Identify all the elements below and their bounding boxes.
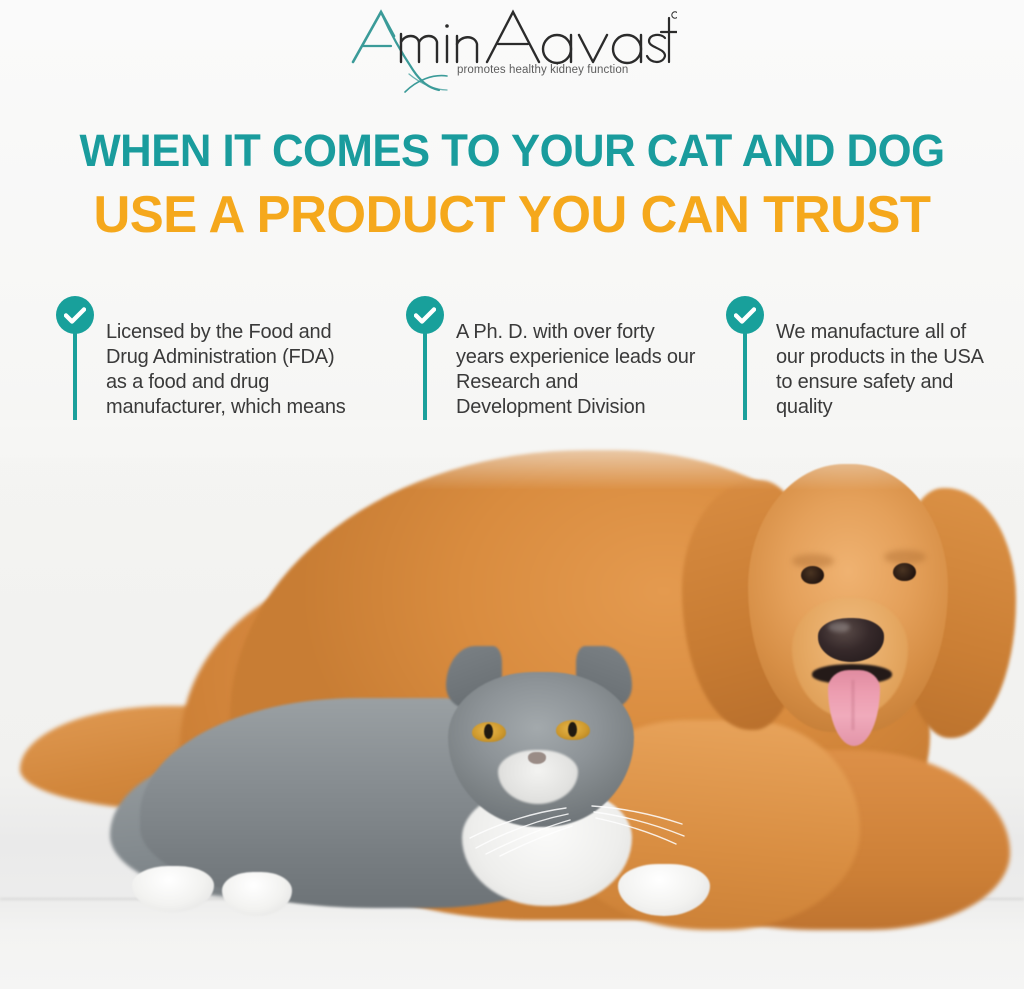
check-badge-2 <box>406 296 444 334</box>
pin-marker-3 <box>726 296 766 334</box>
dog-head <box>700 458 1000 788</box>
headline-block: WHEN IT COMES TO YOUR CAT AND DOG USE A … <box>0 128 1024 241</box>
check-badge-3 <box>726 296 764 334</box>
cat-pupil-right <box>568 722 577 737</box>
dog-eye-left <box>801 566 824 584</box>
brand-logo: promotes healthy kidney function <box>0 4 1024 96</box>
cat-whiskers-icon <box>426 756 706 866</box>
cat-paw-rear-left <box>132 866 214 912</box>
cat-paw-front <box>618 864 710 916</box>
check-icon <box>414 307 436 324</box>
dog-tongue <box>828 670 880 746</box>
benefit-text-3: We manufacture all of our products in th… <box>776 320 988 420</box>
cat-paw-rear-right <box>222 872 292 916</box>
check-icon <box>734 307 756 324</box>
headline-line-2: USE A PRODUCT YOU CAN TRUST <box>10 189 1014 241</box>
pin-marker-2 <box>406 296 446 334</box>
brand-tagline: promotes healthy kidney function <box>457 64 628 76</box>
photo-top-fade <box>0 420 1024 490</box>
logo-wrap: promotes healthy kidney function <box>347 4 677 96</box>
aminavast-wordmark-icon <box>347 4 677 96</box>
pin-stem-3 <box>743 332 747 432</box>
cat-figure <box>110 638 730 928</box>
dog-brow-right <box>884 550 926 564</box>
benefit-text-2: A Ph. D. with over forty years experieni… <box>456 320 696 420</box>
headline-line-1: WHEN IT COMES TO YOUR CAT AND DOG <box>15 128 1008 173</box>
pin-marker-1 <box>56 296 96 334</box>
dog-tongue-crease <box>852 680 854 730</box>
check-icon <box>64 307 86 324</box>
check-badge-1 <box>56 296 94 334</box>
cat-pupil-left <box>484 724 493 739</box>
poster-canvas: promotes healthy kidney function WHEN IT… <box>0 0 1024 989</box>
dog-eye-right <box>893 563 916 581</box>
hero-photo <box>0 420 1024 989</box>
dog-nose-highlight <box>828 622 850 632</box>
